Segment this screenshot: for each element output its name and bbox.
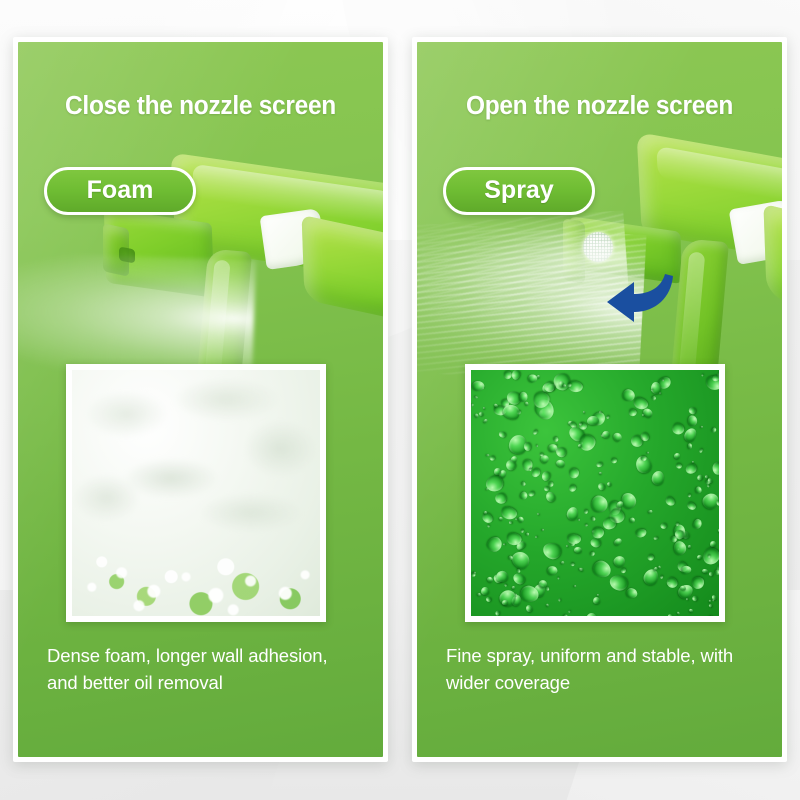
spray-mist-plume-upper: [417, 210, 630, 322]
foam-spray-plume: [18, 252, 256, 379]
photo-frame-droplets: [465, 364, 725, 622]
panel-spray-heading: Open the nozzle screen: [424, 94, 774, 120]
sprayer-nozzle-tip: [103, 223, 129, 277]
rotate-left-arrow-icon: [601, 268, 681, 326]
sprayer-body-gloss: [656, 146, 782, 210]
sprayer-nozzle-collar: [563, 218, 585, 284]
photo-droplets-texture: [471, 370, 719, 616]
panel-foam-caption: Dense foam, longer wall adhesion, and be…: [47, 642, 361, 697]
sprayer-bottle-neck: [729, 199, 782, 265]
panel-foam-background: Close the nozzle screen Foam: [18, 42, 383, 757]
panel-spray: Open the nozzle screen Spray: [412, 37, 787, 762]
panel-spray-background: Open the nozzle screen Spray: [417, 42, 782, 757]
panel-spray-badge: Spray: [443, 167, 595, 215]
panel-foam: Close the nozzle screen Foam: [13, 37, 388, 762]
sprayer-body: [637, 132, 782, 272]
droplet-field: [471, 370, 719, 616]
infographic-canvas: Close the nozzle screen Foam: [0, 0, 800, 800]
sprayer-nozzle-orifice: [119, 247, 135, 264]
sprayer-rear-body: [302, 215, 383, 325]
panel-foam-badge: Foam: [44, 167, 196, 215]
photo-foam-texture: [72, 370, 320, 616]
sprayer-body: [171, 153, 383, 283]
nozzle-mesh-screen: [583, 232, 613, 262]
sprayer-body-gloss: [192, 164, 383, 227]
panel-foam-heading: Close the nozzle screen: [25, 94, 375, 120]
photo-frame-foam: [66, 364, 326, 622]
sprayer-rear-body: [763, 204, 782, 325]
sprayer-bottle-neck: [260, 208, 327, 270]
sprayer-nozzle-head: [104, 208, 215, 298]
panel-spray-caption: Fine spray, uniform and stable, with wid…: [446, 642, 760, 697]
